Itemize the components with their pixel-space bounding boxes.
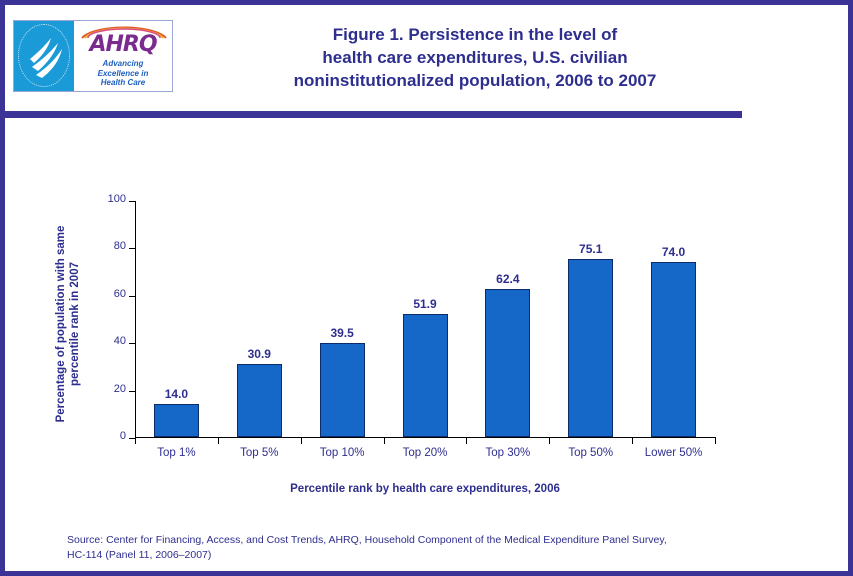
header-rule xyxy=(5,111,742,118)
figure-title-line-2: health care expenditures, U.S. civilian xyxy=(185,46,765,69)
bar-value-label: 75.1 xyxy=(556,242,626,256)
x-axis-line xyxy=(135,437,716,438)
tagline-line-2: Excellence in xyxy=(74,69,172,79)
bar xyxy=(320,343,365,437)
y-tick-mark xyxy=(129,391,135,392)
bar-value-label: 62.4 xyxy=(473,272,543,286)
y-tick-label: 100 xyxy=(108,193,126,205)
y-tick-label: 20 xyxy=(114,383,126,395)
figure-page: AHRQ Advancing Excellence in Health Care… xyxy=(0,0,853,576)
bar-value-label: 14.0 xyxy=(141,387,211,401)
y-tick-label: 60 xyxy=(114,288,126,300)
y-tick-mark xyxy=(129,296,135,297)
hhs-seal-icon xyxy=(14,21,74,91)
bar-value-label: 51.9 xyxy=(390,297,460,311)
figure-header: AHRQ Advancing Excellence in Health Care… xyxy=(5,5,848,105)
bar-value-label: 30.9 xyxy=(224,347,294,361)
x-category-label: Top 30% xyxy=(463,447,553,459)
x-category-label: Top 20% xyxy=(380,447,470,459)
bar-value-label: 39.5 xyxy=(307,326,377,340)
tagline-line-1: Advancing xyxy=(74,59,172,69)
x-category-label: Top 50% xyxy=(546,447,636,459)
bar xyxy=(237,364,282,437)
y-tick-mark xyxy=(129,201,135,202)
x-tick-mark xyxy=(632,438,633,444)
bar xyxy=(154,404,199,437)
y-tick-mark xyxy=(129,343,135,344)
figure-title-line-1: Figure 1. Persistence in the level of xyxy=(185,23,765,46)
x-tick-mark xyxy=(218,438,219,444)
tagline-line-3: Health Care xyxy=(74,78,172,88)
x-category-label: Top 10% xyxy=(297,447,387,459)
x-tick-mark xyxy=(135,438,136,444)
figure-title: Figure 1. Persistence in the level of he… xyxy=(185,23,765,92)
bar-value-label: 74.0 xyxy=(639,245,709,259)
bar xyxy=(651,262,696,437)
bar xyxy=(485,289,530,437)
ahrq-wordmark: AHRQ Advancing Excellence in Health Care xyxy=(74,21,172,91)
x-tick-mark xyxy=(549,438,550,444)
source-line-1: Source: Center for Financing, Access, an… xyxy=(67,533,797,548)
x-category-label: Lower 50% xyxy=(629,447,719,459)
source-note: Source: Center for Financing, Access, an… xyxy=(67,533,797,563)
y-tick-label: 0 xyxy=(120,430,126,442)
x-category-label: Top 1% xyxy=(131,447,221,459)
x-tick-mark xyxy=(466,438,467,444)
figure-title-line-3: noninstitutionalized population, 2006 to… xyxy=(185,69,765,92)
x-tick-mark xyxy=(384,438,385,444)
rainbow-arc-icon xyxy=(78,23,170,39)
y-tick-mark xyxy=(129,248,135,249)
y-axis-title: Percentage of population with same perce… xyxy=(54,199,82,449)
y-tick-label: 80 xyxy=(114,240,126,252)
x-tick-mark xyxy=(301,438,302,444)
y-axis-line xyxy=(135,201,136,439)
x-tick-mark xyxy=(715,438,716,444)
x-axis-title: Percentile rank by health care expenditu… xyxy=(135,483,715,495)
bar xyxy=(403,314,448,437)
plot-area: 020406080100 14.030.939.551.962.475.174.… xyxy=(135,201,715,438)
bar xyxy=(568,259,613,437)
x-category-label: Top 5% xyxy=(214,447,304,459)
ahrq-logo: AHRQ Advancing Excellence in Health Care xyxy=(13,20,173,92)
bar-chart: Percentage of population with same perce… xyxy=(5,125,848,571)
y-tick-label: 40 xyxy=(114,335,126,347)
source-line-2: HC-114 (Panel 11, 2006–2007) xyxy=(67,548,797,563)
ahrq-tagline: Advancing Excellence in Health Care xyxy=(74,59,172,88)
